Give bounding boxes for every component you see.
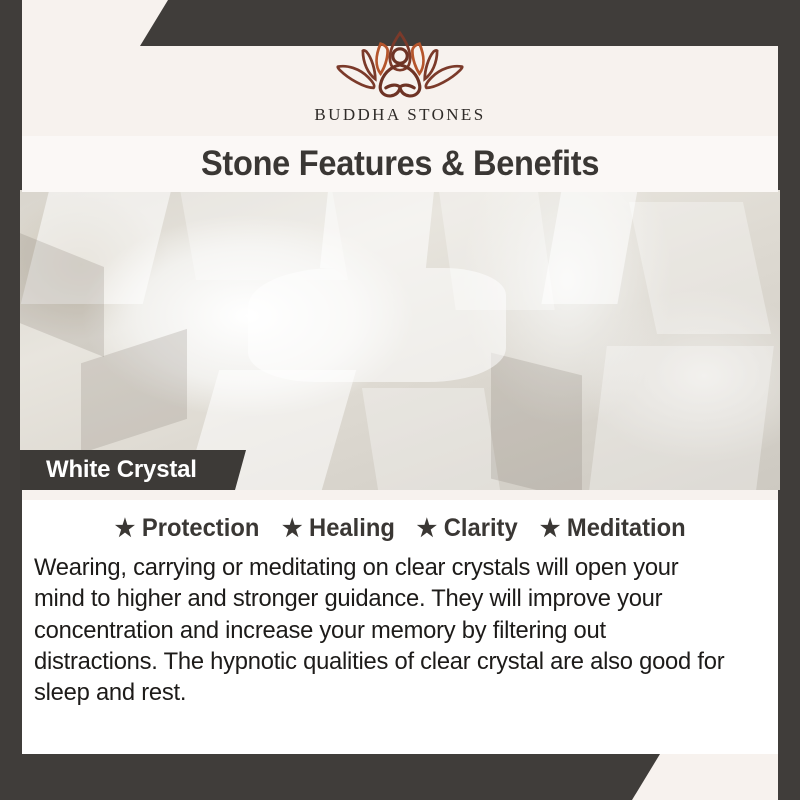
star-icon: ★: [540, 517, 560, 541]
benefit-label: Healing: [309, 514, 395, 543]
description-text: Wearing, carrying or meditating on clear…: [34, 552, 727, 709]
lotus-meditation-icon: [311, 26, 489, 102]
frame-bar-bottom: [0, 754, 660, 800]
benefit-label: Protection: [141, 514, 258, 543]
star-icon: ★: [114, 517, 134, 541]
crystal-photo: [20, 190, 780, 490]
crystal-photo-image: [20, 190, 780, 490]
benefit-item: ★ Healing: [282, 514, 395, 543]
page-title: Stone Features & Benefits: [201, 144, 599, 184]
benefits-list: ★ Protection ★ Healing ★ Clarity ★ Medit…: [22, 500, 778, 543]
benefit-item: ★ Clarity: [416, 514, 517, 543]
status-badge: White Crystal: [20, 450, 246, 490]
status-badge-label: White Crystal: [20, 456, 197, 484]
benefit-item: ★ Protection: [114, 514, 259, 543]
benefit-label: Clarity: [443, 514, 517, 543]
brand-header: BUDDHA STONES: [0, 0, 800, 140]
benefit-label: Meditation: [567, 514, 686, 543]
title-band: Stone Features & Benefits: [22, 136, 778, 192]
benefit-item: ★ Meditation: [540, 514, 686, 543]
content-panel: ★ Protection ★ Healing ★ Clarity ★ Medit…: [22, 500, 778, 754]
star-icon: ★: [416, 517, 436, 541]
brand-wordmark: BUDDHA STONES: [314, 105, 485, 125]
star-icon: ★: [282, 517, 302, 541]
infographic-card: BUDDHA STONES Stone Features & Benefits …: [0, 0, 800, 800]
